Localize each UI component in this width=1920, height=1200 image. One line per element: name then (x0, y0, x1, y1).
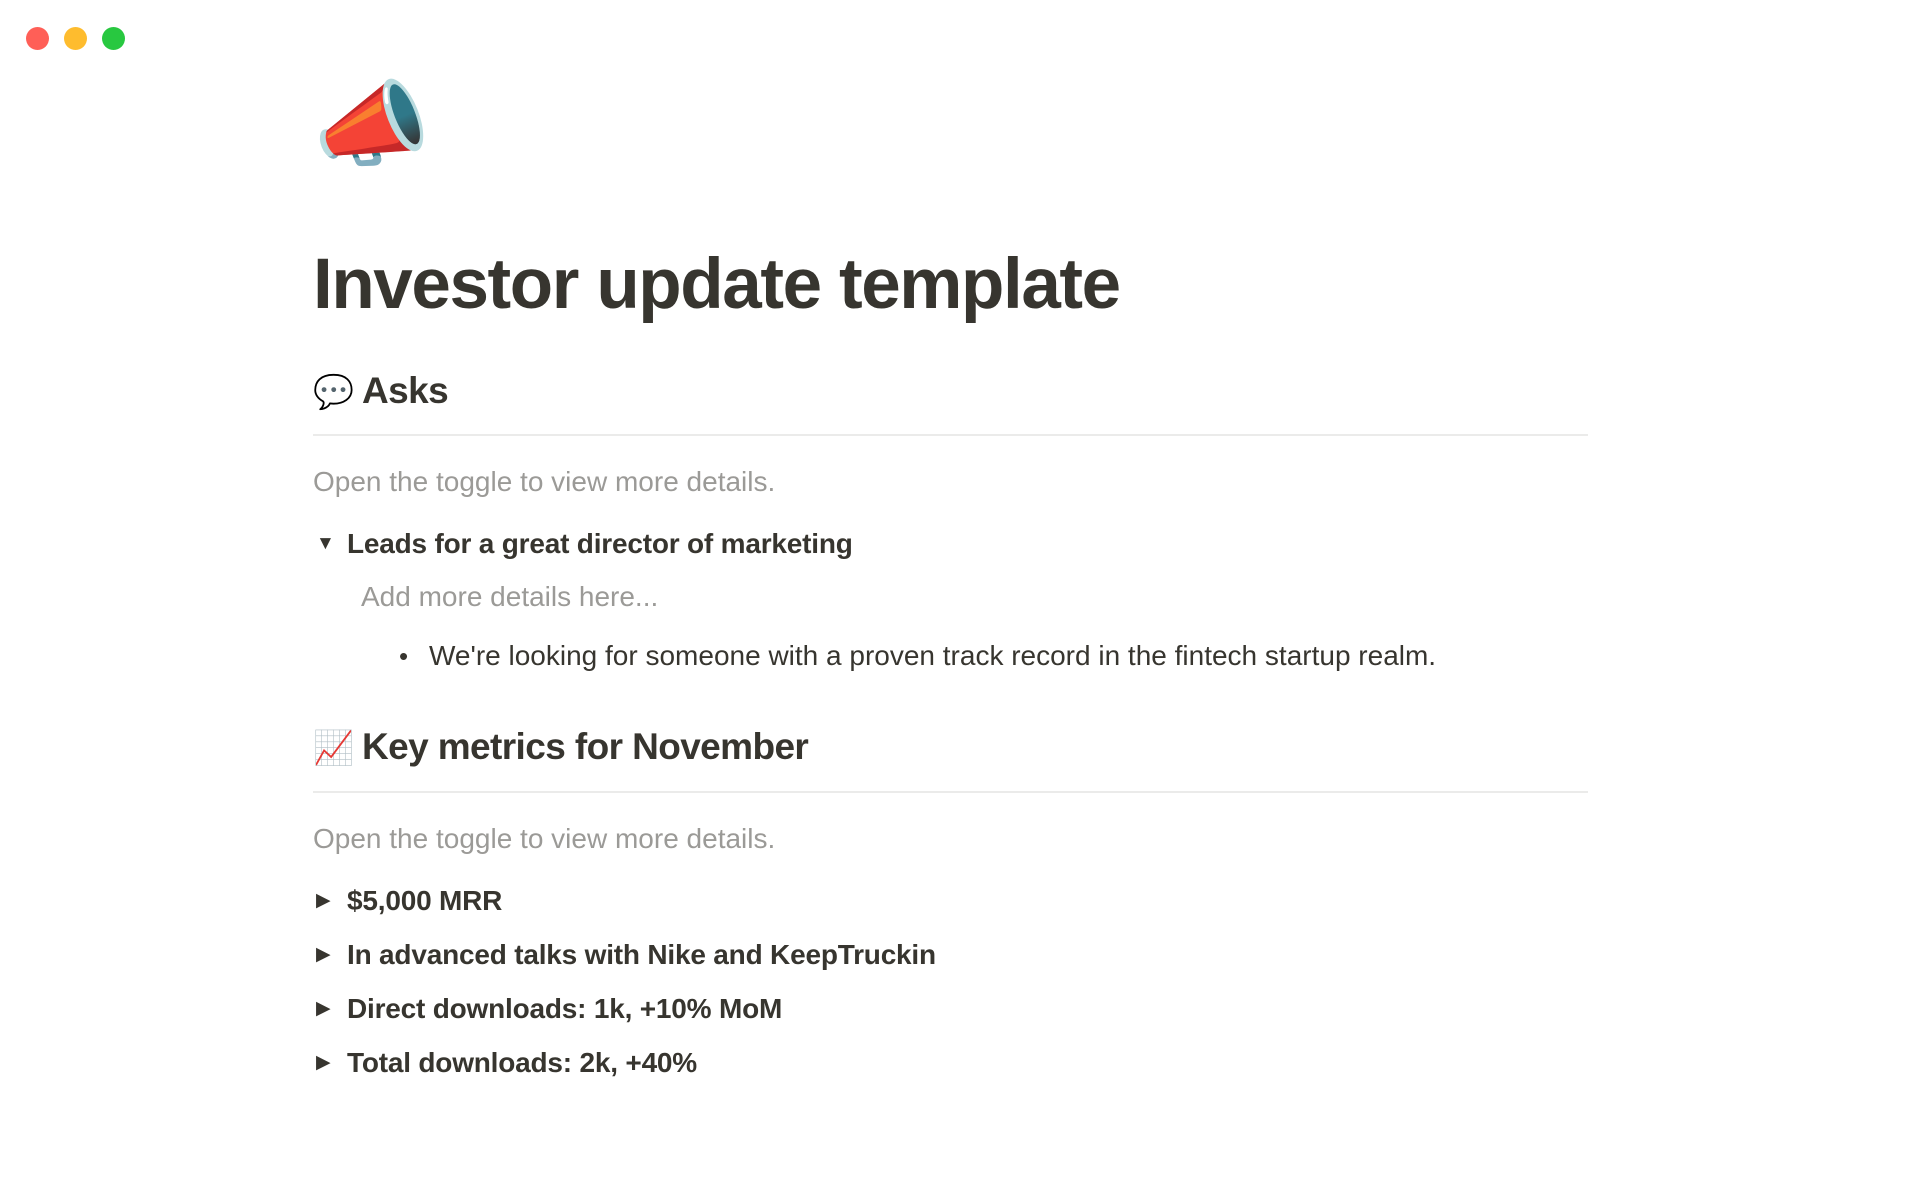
toggle-title[interactable]: Leads for a great director of marketing (347, 524, 853, 564)
toggle-block[interactable]: ▶ Direct downloads: 1k, +10% MoM (313, 982, 1593, 1036)
list-item[interactable]: • We're looking for someone with a prove… (399, 632, 1593, 680)
toggle-block[interactable]: ▶ $5,000 MRR (313, 874, 1593, 928)
toggle-title[interactable]: In advanced talks with Nike and KeepTruc… (347, 935, 936, 975)
megaphone-emoji[interactable]: 📣 (313, 78, 1593, 198)
section-divider (313, 791, 1588, 793)
page-title[interactable]: Investor update template (313, 246, 1593, 324)
maximize-window-button[interactable] (102, 27, 125, 50)
chart-increasing-icon: 📈 (313, 731, 351, 764)
window-controls (26, 27, 125, 50)
close-window-button[interactable] (26, 27, 49, 50)
chevron-down-icon[interactable]: ▼ (313, 524, 347, 564)
toggle-placeholder-text[interactable]: Add more details here... (361, 576, 1593, 618)
minimize-window-button[interactable] (64, 27, 87, 50)
section-key-metrics: 📈 Key metrics for November Open the togg… (313, 724, 1593, 1089)
chevron-right-icon[interactable]: ▶ (313, 1043, 347, 1083)
document-page: 📣 Investor update template 💬 Asks Open t… (0, 72, 1920, 1090)
metrics-toggle-list: ▶ $5,000 MRR ▶ In advanced talks with Ni… (313, 874, 1593, 1090)
chevron-right-icon[interactable]: ▶ (313, 989, 347, 1029)
section-heading-key-metrics[interactable]: 📈 Key metrics for November (313, 724, 1593, 770)
section-asks: 💬 Asks Open the toggle to view more deta… (313, 368, 1593, 680)
asks-hint-text: Open the toggle to view more details. (313, 461, 1593, 503)
bullet-list: • We're looking for someone with a prove… (399, 632, 1593, 680)
toggle-block[interactable]: ▶ In advanced talks with Nike and KeepTr… (313, 928, 1593, 982)
toggle-block[interactable]: ▼ Leads for a great director of marketin… (313, 517, 1593, 571)
section-divider (313, 434, 1588, 436)
section-heading-asks[interactable]: 💬 Asks (313, 368, 1593, 414)
toggle-body: Add more details here... • We're looking… (361, 576, 1593, 680)
chevron-right-icon[interactable]: ▶ (313, 881, 347, 921)
chevron-right-icon[interactable]: ▶ (313, 935, 347, 975)
list-item-text[interactable]: We're looking for someone with a proven … (429, 635, 1436, 677)
toggle-block[interactable]: ▶ Total downloads: 2k, +40% (313, 1036, 1593, 1090)
asks-toggle-list: ▼ Leads for a great director of marketin… (313, 517, 1593, 680)
bullet-icon: • (399, 635, 429, 677)
toggle-title[interactable]: Total downloads: 2k, +40% (347, 1043, 697, 1083)
metrics-hint-text: Open the toggle to view more details. (313, 818, 1593, 860)
section-heading-label: Asks (362, 368, 448, 414)
window-title-bar (0, 0, 1920, 72)
section-heading-label: Key metrics for November (362, 724, 808, 770)
toggle-title[interactable]: Direct downloads: 1k, +10% MoM (347, 989, 782, 1029)
toggle-title[interactable]: $5,000 MRR (347, 881, 502, 921)
document-content: 📣 Investor update template 💬 Asks Open t… (313, 78, 1593, 1090)
speech-balloon-icon: 💬 (313, 375, 351, 408)
